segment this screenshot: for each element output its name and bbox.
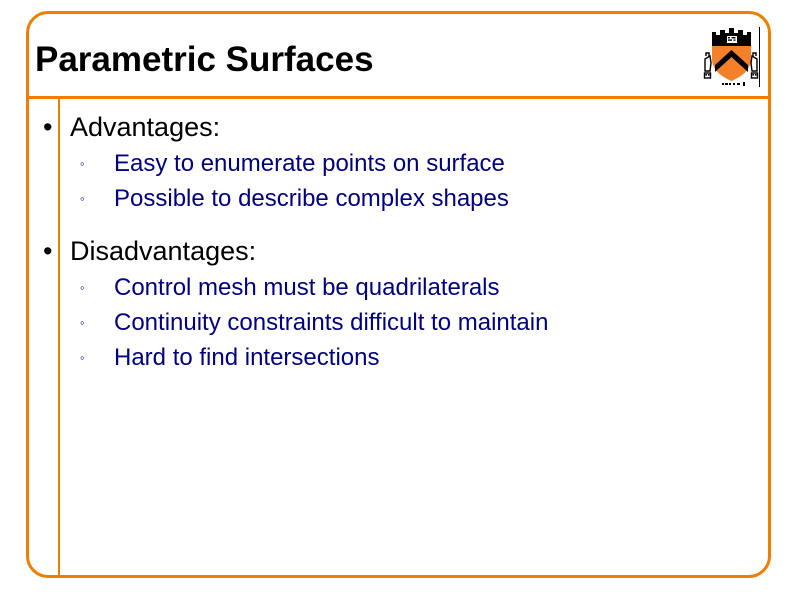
princeton-shield-icon <box>703 25 759 89</box>
princeton-shield-logo <box>703 25 765 89</box>
list-item: ◦ Hard to find intersections <box>40 340 740 375</box>
sub-bullet-text: Control mesh must be quadrilaterals <box>114 270 500 305</box>
sub-bullet-text: Possible to describe complex shapes <box>114 181 509 216</box>
list-item: ◦ Continuity constraints difficult to ma… <box>40 305 740 340</box>
bullet-heading-advantages: Advantages: <box>70 108 220 146</box>
bullet-item-advantages: • Advantages: <box>40 108 740 146</box>
section-spacer <box>40 216 740 232</box>
sublist-disadvantages: ◦ Control mesh must be quadrilaterals ◦ … <box>40 270 740 375</box>
sub-bullet-text: Continuity constraints difficult to main… <box>114 305 548 340</box>
title-bar: Parametric Surfaces <box>26 11 771 97</box>
bullet-item-disadvantages: • Disadvantages: <box>40 232 740 270</box>
bullet-marker-level2: ◦ <box>80 305 114 340</box>
bullet-marker-level2: ◦ <box>80 181 114 216</box>
slide-canvas: Parametric Surfaces <box>0 0 800 600</box>
sub-bullet-text: Hard to find intersections <box>114 340 379 375</box>
list-item: ◦ Control mesh must be quadrilaterals <box>40 270 740 305</box>
bullet-marker-level2: ◦ <box>80 340 114 375</box>
bullet-marker-level1: • <box>40 108 70 146</box>
bullet-marker-level2: ◦ <box>80 270 114 305</box>
list-item: ◦ Easy to enumerate points on surface <box>40 146 740 181</box>
sub-bullet-text: Easy to enumerate points on surface <box>114 146 505 181</box>
bullet-marker-level1: • <box>40 232 70 270</box>
bullet-marker-level2: ◦ <box>80 146 114 181</box>
sublist-advantages: ◦ Easy to enumerate points on surface ◦ … <box>40 146 740 216</box>
logo-vertical-rule <box>759 27 760 87</box>
page-title: Parametric Surfaces <box>35 40 374 80</box>
list-item: ◦ Possible to describe complex shapes <box>40 181 740 216</box>
slide-body-content: • Advantages: ◦ Easy to enumerate points… <box>40 108 740 375</box>
bullet-heading-disadvantages: Disadvantages: <box>70 232 256 270</box>
